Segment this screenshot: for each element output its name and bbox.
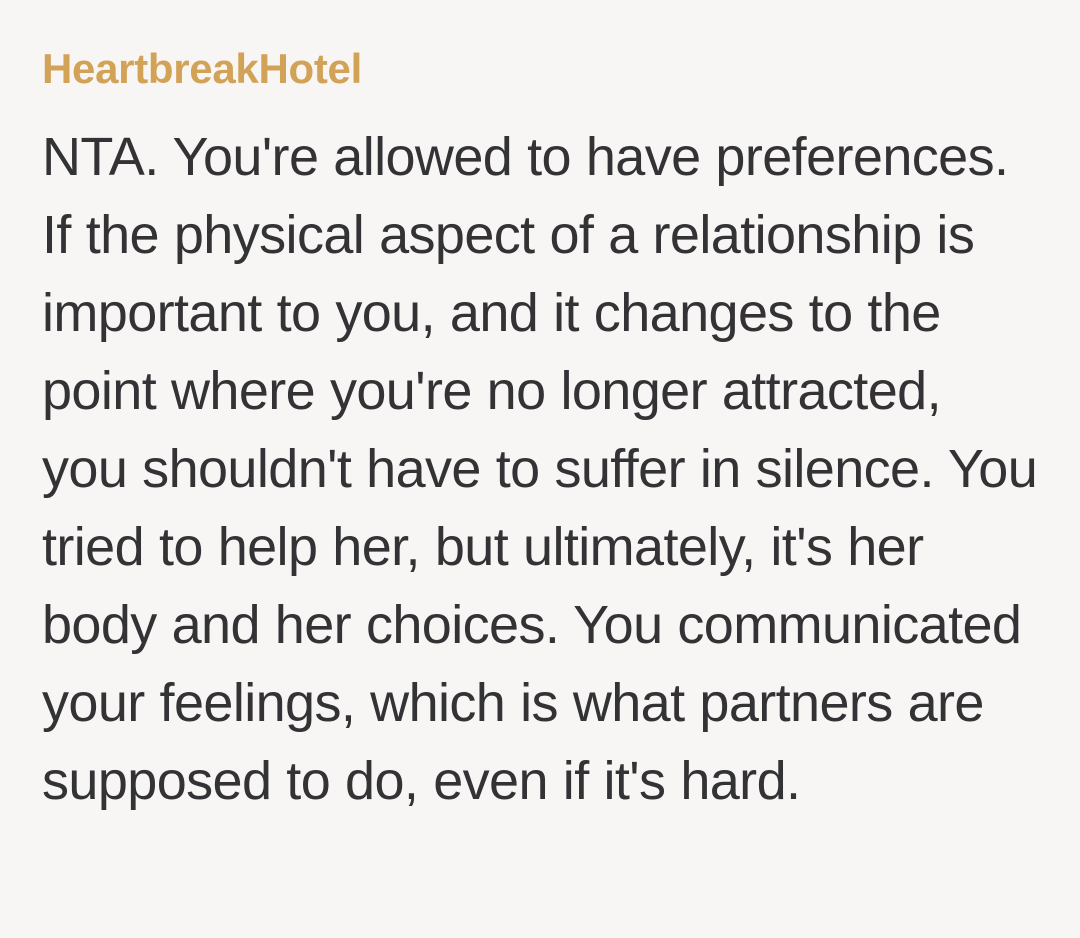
comment-author-username[interactable]: HeartbreakHotel	[42, 0, 1040, 90]
comment-card: HeartbreakHotel NTA. You're allowed to h…	[0, 0, 1080, 938]
comment-body-text: NTA. You're allowed to have preferences.…	[42, 90, 1040, 820]
